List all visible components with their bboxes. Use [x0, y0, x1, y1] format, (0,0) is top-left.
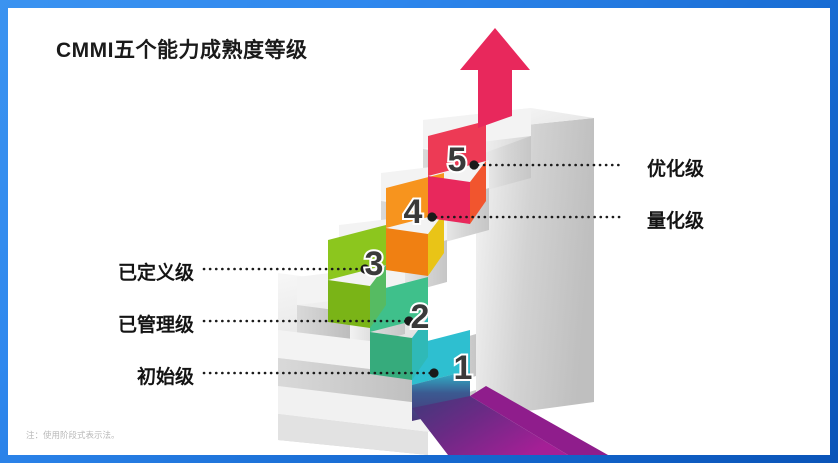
leader-dot-1	[429, 368, 438, 377]
step-number-4: 4	[404, 193, 423, 231]
leader-dot-5	[469, 160, 478, 169]
level-label-2: 已管理级	[19, 310, 194, 337]
level-label-5: 优化级	[647, 154, 704, 181]
diagram-canvas: 5 4 3 2 1 优化级 量化级 已定义级 已管理级 初始级	[8, 8, 830, 455]
slide-page: CMMI五个能力成熟度等级	[8, 8, 830, 455]
step-number-1: 1	[454, 349, 473, 387]
level-label-3: 已定义级	[19, 258, 194, 285]
footnote: 注：使用阶段式表示法。	[26, 429, 120, 441]
level-label-1: 初始级	[19, 362, 194, 389]
step-number-2: 2	[411, 298, 430, 336]
slide-frame: CMMI五个能力成熟度等级	[0, 0, 838, 463]
step-number-5: 5	[448, 141, 467, 179]
ribbon-riser-4	[386, 228, 428, 276]
step-number-3: 3	[365, 245, 384, 283]
leader-dot-4	[427, 212, 436, 221]
level-label-4: 量化级	[647, 206, 704, 233]
